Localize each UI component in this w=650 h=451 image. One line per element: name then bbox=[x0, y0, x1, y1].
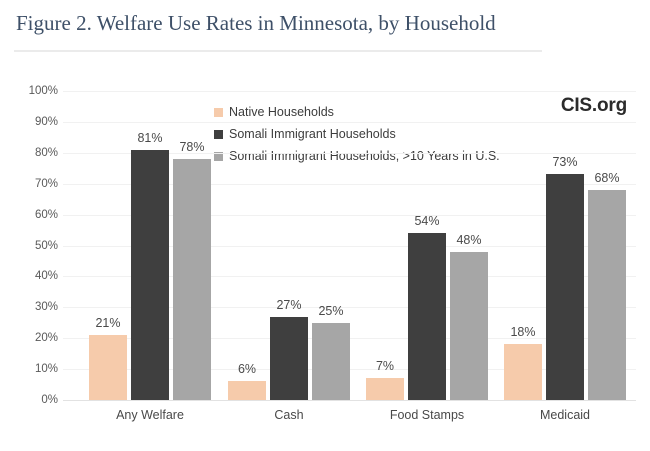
bar-value-label: 7% bbox=[359, 359, 411, 373]
y-axis-tick-label: 40% bbox=[12, 270, 58, 282]
bar-value-label: 6% bbox=[221, 362, 273, 376]
y-axis-tick-label: 10% bbox=[12, 363, 58, 375]
bar[interactable] bbox=[173, 159, 211, 400]
bar[interactable] bbox=[546, 174, 584, 400]
y-axis-tick-label: 90% bbox=[12, 116, 58, 128]
bar-value-label: 18% bbox=[497, 325, 549, 339]
y-axis-tick-label: 20% bbox=[12, 332, 58, 344]
bar-value-label: 68% bbox=[581, 171, 633, 185]
y-axis-tick-label: 50% bbox=[12, 240, 58, 252]
bar[interactable] bbox=[312, 323, 350, 400]
plot-area: 21%81%78%Any Welfare6%27%25%Cash7%54%48%… bbox=[63, 91, 636, 400]
y-axis-tick-label: 70% bbox=[12, 178, 58, 190]
bar-value-label: 73% bbox=[539, 155, 591, 169]
bar[interactable] bbox=[131, 150, 169, 400]
gridline bbox=[63, 91, 636, 92]
bar[interactable] bbox=[588, 190, 626, 400]
page-title: Figure 2. Welfare Use Rates in Minnesota… bbox=[16, 10, 636, 37]
bar[interactable] bbox=[270, 317, 308, 400]
bar[interactable] bbox=[408, 233, 446, 400]
y-axis-tick-label: 0% bbox=[12, 394, 58, 406]
bar[interactable] bbox=[89, 335, 127, 400]
bar-value-label: 21% bbox=[82, 316, 134, 330]
y-axis-tick-label: 100% bbox=[12, 85, 58, 97]
gridline bbox=[63, 400, 636, 401]
bar[interactable] bbox=[450, 252, 488, 400]
bar-value-label: 54% bbox=[401, 214, 453, 228]
bar-value-label: 25% bbox=[305, 304, 357, 318]
bar[interactable] bbox=[228, 381, 266, 400]
title-divider bbox=[14, 50, 542, 52]
bar-value-label: 48% bbox=[443, 233, 495, 247]
chart-page: Figure 2. Welfare Use Rates in Minnesota… bbox=[0, 0, 650, 451]
y-axis-tick-label: 30% bbox=[12, 301, 58, 313]
gridline bbox=[63, 122, 636, 123]
y-axis-tick-label: 60% bbox=[12, 209, 58, 221]
x-axis-category-label: Medicaid bbox=[480, 408, 650, 422]
bar[interactable] bbox=[504, 344, 542, 400]
y-axis-tick-label: 80% bbox=[12, 147, 58, 159]
bar[interactable] bbox=[366, 378, 404, 400]
bar-value-label: 78% bbox=[166, 140, 218, 154]
